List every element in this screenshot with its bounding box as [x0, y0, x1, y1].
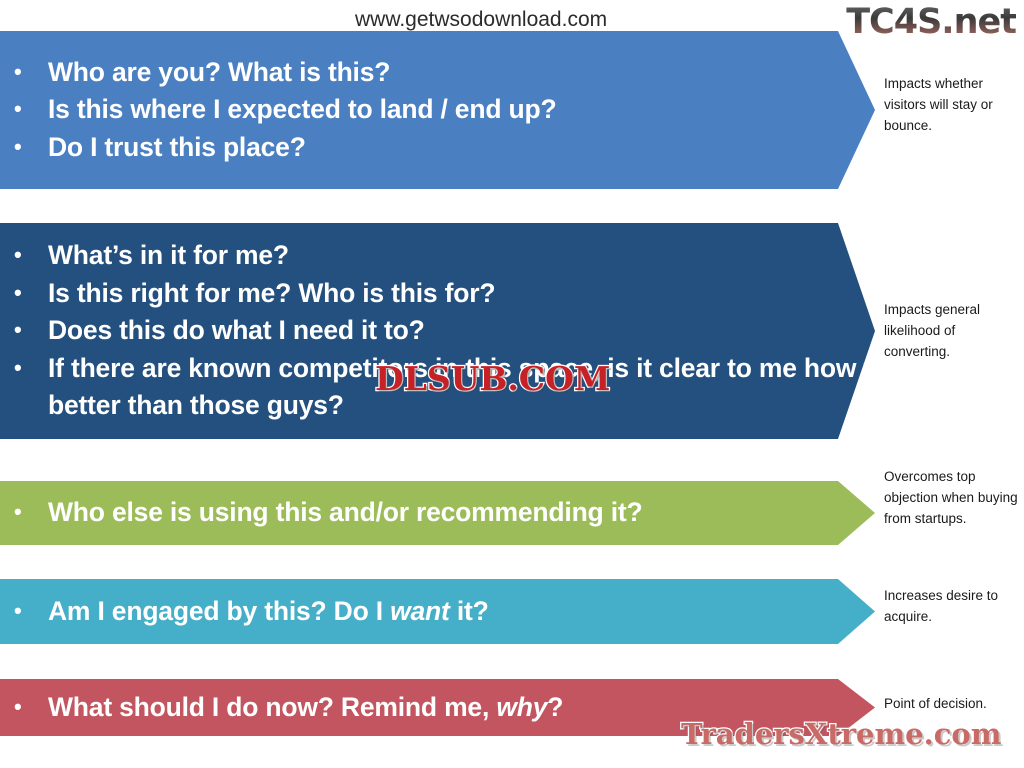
- bullet-text: Am I engaged by this? Do I want it?: [48, 593, 1024, 631]
- stage-row-2: • What’s in it for me? • Is this right f…: [0, 223, 1024, 439]
- bullet-text-post: it?: [450, 596, 489, 626]
- stage-1-bullet-list: • Who are you? What is this? • Is this w…: [0, 31, 1024, 189]
- bullet-text: Who else is using this and/or recommendi…: [48, 494, 1024, 532]
- slide-canvas: • Who are you? What is this? • Is this w…: [0, 0, 1024, 768]
- stage-3-bullet-list: • Who else is using this and/or recommen…: [0, 481, 1024, 545]
- bullet-item: • Is this where I expected to land / end…: [14, 91, 1024, 129]
- stage-2-side-note: Impacts general likelihood of converting…: [884, 300, 1020, 363]
- bullet-dot-icon: •: [14, 494, 48, 529]
- bullet-dot-icon: •: [14, 312, 48, 347]
- stage-5-side-note: Point of decision.: [884, 694, 1020, 715]
- bullet-dot-icon: •: [14, 91, 48, 126]
- stage-2-bullet-list: • What’s in it for me? • Is this right f…: [0, 223, 1024, 439]
- stage-1-side-note: Impacts whether visitors will stay or bo…: [884, 74, 1020, 137]
- bullet-text-emphasis: want: [390, 596, 450, 626]
- bullet-dot-icon: •: [14, 54, 48, 89]
- bullet-dot-icon: •: [14, 237, 48, 272]
- stage-3-side-note: Overcomes top objection when buying from…: [884, 467, 1020, 530]
- stage-row-1: • Who are you? What is this? • Is this w…: [0, 31, 1024, 189]
- bullet-dot-icon: •: [14, 593, 48, 628]
- bullet-text: Is this where I expected to land / end u…: [48, 91, 1024, 129]
- bullet-text-pre: Am I engaged by this? Do I: [48, 596, 390, 626]
- bullet-item: • Who else is using this and/or recommen…: [14, 494, 1024, 532]
- watermark-tc4s-logo: TC4S.net: [846, 2, 1016, 42]
- bullet-text: Does this do what I need it to?: [48, 312, 1024, 350]
- bullet-item: • Does this do what I need it to?: [14, 312, 1024, 350]
- stage-row-3: • Who else is using this and/or recommen…: [0, 481, 1024, 545]
- bullet-item: • What’s in it for me?: [14, 237, 1024, 275]
- bullet-text: Who are you? What is this?: [48, 54, 1024, 92]
- stage-row-4: • Am I engaged by this? Do I want it?: [0, 579, 1024, 644]
- stage-4-bullet-list: • Am I engaged by this? Do I want it?: [0, 579, 1024, 644]
- bullet-dot-icon: •: [14, 275, 48, 310]
- bullet-text-pre: What should I do now? Remind me,: [48, 692, 496, 722]
- bullet-item: • Is this right for me? Who is this for?: [14, 275, 1024, 313]
- watermark-dlsub: DLSUB.COM: [375, 359, 610, 398]
- bullet-text-emphasis: why: [496, 692, 547, 722]
- bullet-dot-icon: •: [14, 689, 48, 724]
- bullet-item: • Am I engaged by this? Do I want it?: [14, 593, 1024, 631]
- bullet-text-post: ?: [547, 692, 563, 722]
- bullet-item: • Do I trust this place?: [14, 129, 1024, 167]
- stage-4-side-note: Increases desire to acquire.: [884, 586, 1020, 628]
- watermark-tradersxtreme: TradersXtreme.com: [681, 717, 1001, 751]
- bullet-text: Is this right for me? Who is this for?: [48, 275, 1024, 313]
- bullet-item: • Who are you? What is this?: [14, 54, 1024, 92]
- bullet-text: What’s in it for me?: [48, 237, 1024, 275]
- bullet-text: Do I trust this place?: [48, 129, 1024, 167]
- bullet-dot-icon: •: [14, 129, 48, 164]
- watermark-getwsodownload: www.getwsodownload.com: [355, 8, 607, 32]
- bullet-dot-icon: •: [14, 350, 48, 385]
